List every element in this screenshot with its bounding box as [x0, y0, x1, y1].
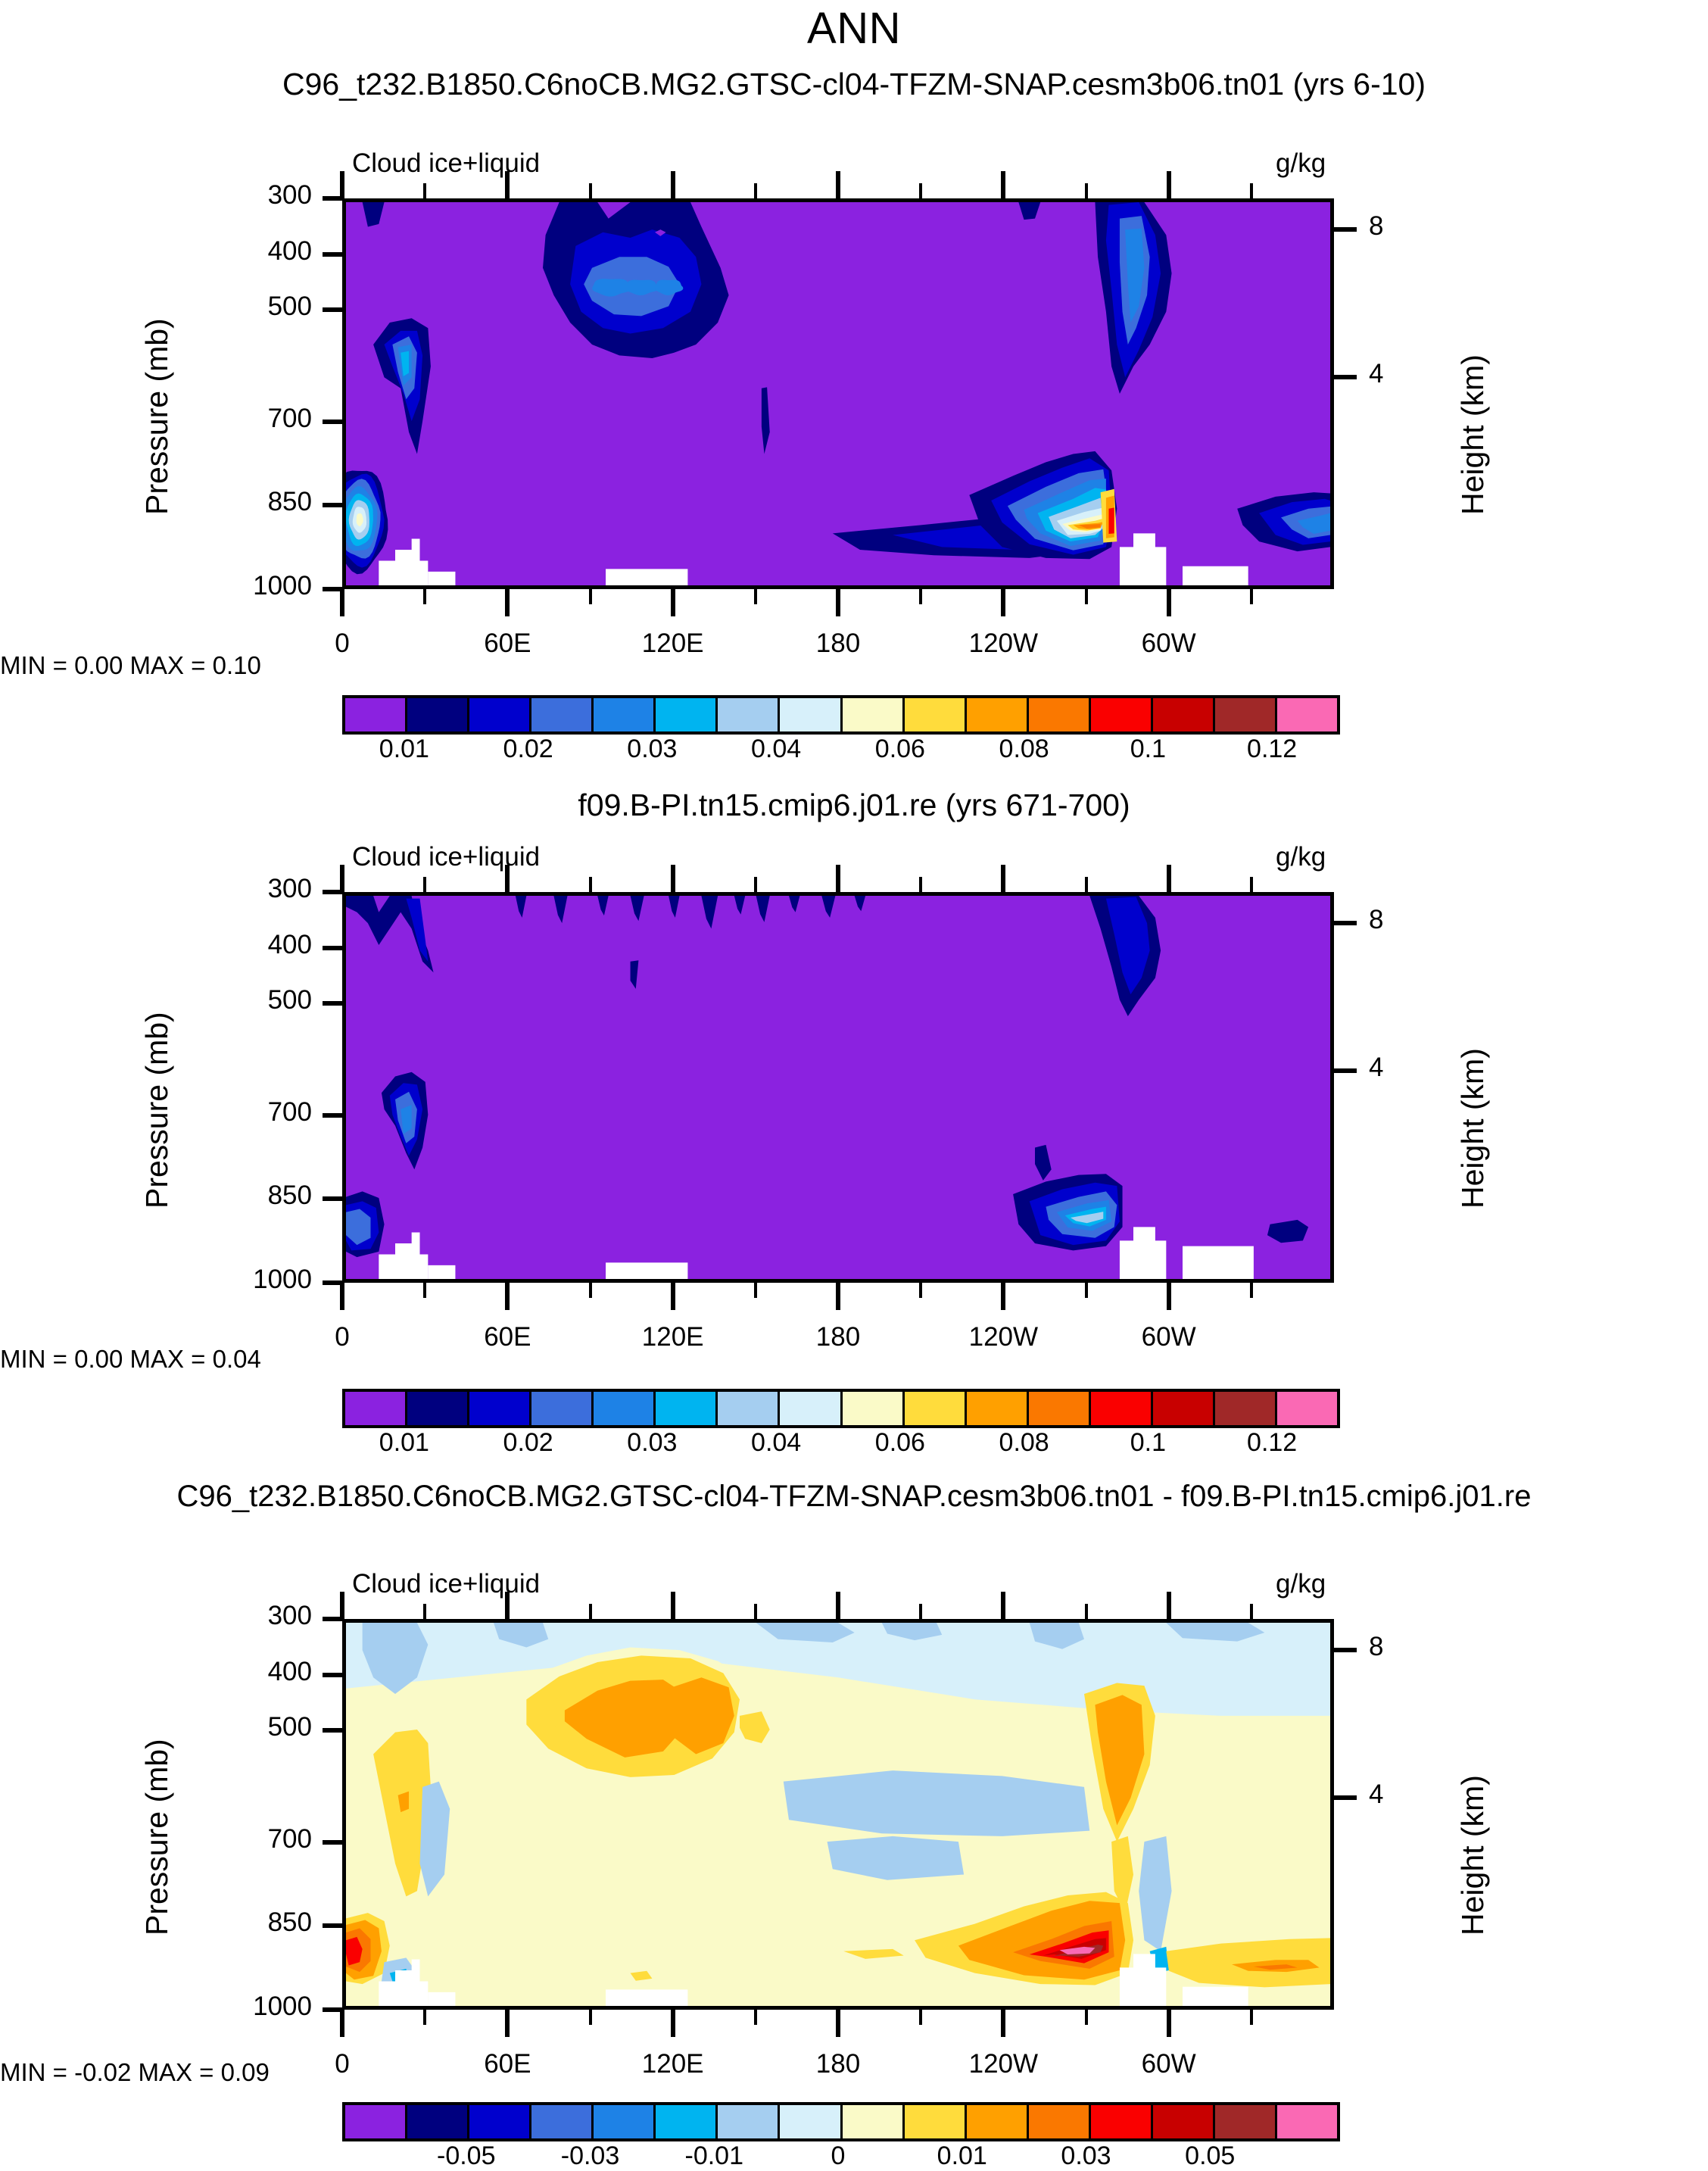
x-minor-tick-mark — [754, 589, 757, 604]
colorbar-cell — [531, 698, 594, 731]
colorbar-cell — [1215, 1392, 1277, 1425]
y2-axis-title: Height (km) — [1455, 1775, 1491, 1935]
colorbar-label: -0.01 — [661, 2141, 767, 2171]
colorbar-cell — [469, 1392, 531, 1425]
colorbar-label: 0.03 — [599, 1428, 705, 1458]
x-tick-mark — [836, 1592, 840, 1619]
x-minor-tick-mark — [919, 2010, 922, 2025]
panel-3-colorbar — [342, 2102, 1340, 2141]
colorbar-cell — [1091, 2105, 1153, 2138]
panel-3-plot-area — [342, 1619, 1334, 2010]
y-axis-title: Pressure (mb) — [139, 1739, 175, 1935]
colorbar-cell — [407, 1392, 469, 1425]
x-minor-tick-mark — [1085, 1283, 1088, 1298]
x-tick-label: 60W — [1093, 629, 1245, 659]
x-minor-tick-mark — [589, 1604, 592, 1619]
colorbar-cell — [718, 2105, 780, 2138]
colorbar-label: 0.02 — [475, 1428, 581, 1458]
colorbar-label: -0.05 — [413, 2141, 519, 2171]
x-minor-tick-mark — [1085, 877, 1088, 892]
colorbar-cell — [905, 1392, 967, 1425]
x-minor-tick-mark — [423, 589, 426, 604]
colorbar-label: -0.03 — [538, 2141, 644, 2171]
y-tick-label: 400 — [168, 1657, 312, 1687]
y-tick-mark — [323, 1196, 342, 1201]
y2-axis-title: Height (km) — [1455, 354, 1491, 515]
x-tick-mark — [671, 589, 675, 616]
x-minor-tick-mark — [919, 183, 922, 198]
colorbar-cell — [843, 698, 905, 731]
colorbar-cell — [1091, 698, 1153, 731]
x-tick-mark — [836, 1283, 840, 1310]
x-minor-tick-mark — [754, 183, 757, 198]
contour-band — [1109, 507, 1114, 534]
y-tick-label: 850 — [168, 487, 312, 517]
x-tick-mark — [505, 1283, 510, 1310]
y-axis-title: Pressure (mb) — [139, 318, 175, 515]
x-tick-mark — [1001, 1592, 1005, 1619]
colorbar-cell — [594, 2105, 656, 2138]
y-tick-mark — [323, 1673, 342, 1677]
colorbar-cell — [531, 2105, 594, 2138]
contour-field — [346, 202, 1330, 585]
colorbar-cell — [1029, 1392, 1091, 1425]
x-minor-tick-mark — [589, 2010, 592, 2025]
x-tick-mark — [340, 865, 344, 892]
contour-band — [412, 1233, 420, 1279]
x-tick-label: 60E — [432, 629, 583, 659]
y-tick-label: 700 — [168, 1097, 312, 1128]
x-tick-mark — [836, 865, 840, 892]
x-minor-tick-mark — [423, 877, 426, 892]
colorbar-cell — [407, 698, 469, 731]
y-tick-mark — [323, 307, 342, 312]
contour-band — [428, 1265, 455, 1279]
x-minor-tick-mark — [919, 877, 922, 892]
contour-field — [346, 1623, 1330, 2006]
colorbar-cell — [780, 2105, 842, 2138]
x-tick-mark — [836, 171, 840, 198]
colorbar-cell — [1153, 1392, 1215, 1425]
x-tick-mark — [836, 2010, 840, 2037]
y-tick-label: 700 — [168, 1824, 312, 1854]
colorbar-label: 0.12 — [1219, 1428, 1325, 1458]
colorbar-cell — [1277, 698, 1337, 731]
colorbar-cell — [905, 2105, 967, 2138]
x-minor-tick-mark — [423, 2010, 426, 2025]
colorbar-label: 0.08 — [971, 1428, 1077, 1458]
colorbar-label: 0.08 — [971, 735, 1077, 764]
colorbar-label: 0.02 — [475, 735, 581, 764]
y-tick-label: 850 — [168, 1907, 312, 1938]
y-tick-label: 500 — [168, 292, 312, 322]
colorbar-cell — [469, 698, 531, 731]
y2-tick-mark — [1334, 227, 1357, 232]
x-tick-label: 60W — [1093, 1322, 1245, 1352]
y2-tick-mark — [1334, 1068, 1357, 1073]
contour-band — [606, 1262, 687, 1279]
colorbar-cell — [594, 1392, 656, 1425]
colorbar-cell — [656, 2105, 718, 2138]
y-tick-label: 1000 — [168, 571, 312, 601]
y-tick-label: 300 — [168, 874, 312, 904]
y-tick-label: 500 — [168, 1712, 312, 1742]
x-tick-mark — [505, 1592, 510, 1619]
contour-band — [1133, 1227, 1155, 1279]
colorbar-label: 0.1 — [1095, 1428, 1201, 1458]
colorbar-label: 0.01 — [351, 735, 457, 764]
y2-tick-label: 4 — [1369, 1053, 1383, 1083]
contour-band — [412, 539, 420, 585]
contour-band — [1183, 566, 1248, 585]
x-tick-label: 120W — [927, 1322, 1079, 1352]
colorbar-cell — [905, 698, 967, 731]
panel-2-colorbar — [342, 1389, 1340, 1428]
y2-tick-label: 4 — [1369, 1780, 1383, 1810]
x-tick-mark — [340, 1592, 344, 1619]
y-tick-mark — [323, 1840, 342, 1845]
x-minor-tick-mark — [754, 1604, 757, 1619]
y2-tick-label: 8 — [1369, 905, 1383, 935]
contour-band — [606, 1989, 687, 2006]
colorbar-cell — [469, 2105, 531, 2138]
y2-tick-mark — [1334, 921, 1357, 925]
x-minor-tick-mark — [1250, 877, 1253, 892]
y-tick-label: 500 — [168, 985, 312, 1015]
colorbar-cell — [1277, 1392, 1337, 1425]
x-tick-label: 120E — [597, 629, 749, 659]
x-minor-tick-mark — [423, 183, 426, 198]
colorbar-cell — [1153, 2105, 1215, 2138]
panel-2-plot-area — [342, 892, 1334, 1283]
x-tick-mark — [1001, 1283, 1005, 1310]
y-tick-label: 1000 — [168, 1992, 312, 2022]
y-tick-label: 400 — [168, 930, 312, 960]
panel-1-unit-label: g/kg — [1276, 148, 1326, 179]
colorbar-cell — [843, 1392, 905, 1425]
y-tick-mark — [323, 1728, 342, 1733]
x-tick-mark — [505, 171, 510, 198]
x-tick-mark — [1167, 171, 1171, 198]
x-tick-mark — [340, 589, 344, 616]
y-tick-label: 700 — [168, 404, 312, 434]
x-minor-tick-mark — [589, 1283, 592, 1298]
x-tick-mark — [340, 171, 344, 198]
x-tick-mark — [505, 865, 510, 892]
x-tick-mark — [671, 1283, 675, 1310]
x-tick-mark — [1001, 589, 1005, 616]
colorbar-cell — [718, 698, 780, 731]
contour-band — [1133, 533, 1155, 585]
contour-field — [346, 896, 1330, 1279]
x-minor-tick-mark — [919, 589, 922, 604]
x-minor-tick-mark — [1250, 1604, 1253, 1619]
contour-band — [412, 1960, 420, 2006]
x-minor-tick-mark — [423, 1604, 426, 1619]
y2-tick-label: 8 — [1369, 211, 1383, 242]
x-minor-tick-mark — [754, 877, 757, 892]
contour-band — [428, 1992, 455, 2006]
x-tick-label: 0 — [266, 2049, 418, 2079]
colorbar-cell — [345, 1392, 407, 1425]
x-tick-mark — [1001, 171, 1005, 198]
colorbar-label: 0.03 — [1033, 2141, 1139, 2171]
colorbar-label: 0.03 — [599, 735, 705, 764]
x-tick-label: 120W — [927, 629, 1079, 659]
contour-band — [1183, 1987, 1248, 2006]
x-minor-tick-mark — [1250, 1283, 1253, 1298]
y-tick-mark — [323, 1113, 342, 1118]
colorbar-cell — [1215, 2105, 1277, 2138]
panel-2-variable-label: Cloud ice+liquid — [352, 842, 540, 872]
x-tick-label: 60W — [1093, 2049, 1245, 2079]
y-tick-mark — [323, 503, 342, 507]
x-minor-tick-mark — [1085, 2010, 1088, 2025]
y-tick-label: 850 — [168, 1181, 312, 1211]
panel-1-colorbar — [342, 695, 1340, 735]
colorbar-cell — [656, 1392, 718, 1425]
x-tick-label: 120W — [927, 2049, 1079, 2079]
field-background — [346, 896, 1330, 1279]
x-tick-label: 120E — [597, 2049, 749, 2079]
x-tick-label: 60E — [432, 2049, 583, 2079]
x-tick-mark — [1001, 2010, 1005, 2037]
x-minor-tick-mark — [1085, 589, 1088, 604]
colorbar-label: 0.1 — [1095, 735, 1201, 764]
x-tick-mark — [1167, 1592, 1171, 1619]
colorbar-label: 0.01 — [909, 2141, 1015, 2171]
contour-band — [606, 569, 687, 585]
colorbar-cell — [1215, 698, 1277, 731]
colorbar-cell — [1153, 698, 1215, 731]
panel-1-plot-area — [342, 198, 1334, 589]
colorbar-label: 0.04 — [723, 735, 829, 764]
x-minor-tick-mark — [589, 589, 592, 604]
colorbar-cell — [843, 2105, 905, 2138]
x-tick-mark — [671, 2010, 675, 2037]
y-tick-label: 400 — [168, 236, 312, 267]
colorbar-label: 0.01 — [351, 1428, 457, 1458]
x-minor-tick-mark — [423, 1283, 426, 1298]
x-minor-tick-mark — [1085, 1604, 1088, 1619]
colorbar-cell — [1091, 1392, 1153, 1425]
x-minor-tick-mark — [919, 1283, 922, 1298]
x-minor-tick-mark — [1250, 2010, 1253, 2025]
y-axis-title: Pressure (mb) — [139, 1012, 175, 1209]
x-tick-label: 180 — [762, 2049, 914, 2079]
x-tick-mark — [836, 589, 840, 616]
contour-band — [1133, 1954, 1155, 2006]
panel-2-title: f09.B-PI.tn15.cmip6.j01.re (yrs 671-700) — [0, 788, 1708, 823]
panel-1-variable-label: Cloud ice+liquid — [352, 148, 540, 179]
y2-tick-mark — [1334, 375, 1357, 379]
colorbar-label: 0.05 — [1157, 2141, 1263, 2171]
colorbar-cell — [780, 698, 842, 731]
x-tick-mark — [1167, 2010, 1171, 2037]
colorbar-cell — [1277, 2105, 1337, 2138]
y-tick-mark — [323, 1923, 342, 1928]
panel-3-variable-label: Cloud ice+liquid — [352, 1569, 540, 1599]
colorbar-cell — [780, 1392, 842, 1425]
y-tick-label: 300 — [168, 180, 312, 211]
x-minor-tick-mark — [1250, 589, 1253, 604]
panel-3-unit-label: g/kg — [1276, 1569, 1326, 1599]
colorbar-label: 0.06 — [847, 735, 953, 764]
figure-page: ANN C96_t232.B1850.C6noCB.MG2.GTSC-cl04-… — [0, 0, 1708, 2166]
x-minor-tick-mark — [1085, 183, 1088, 198]
colorbar-label: 0.12 — [1219, 735, 1325, 764]
colorbar-cell — [407, 2105, 469, 2138]
colorbar-cell — [1029, 698, 1091, 731]
colorbar-cell — [967, 698, 1029, 731]
panel-1-title: C96_t232.B1850.C6noCB.MG2.GTSC-cl04-TFZM… — [0, 67, 1708, 102]
x-tick-mark — [671, 865, 675, 892]
x-tick-mark — [1167, 865, 1171, 892]
colorbar-cell — [345, 2105, 407, 2138]
y-tick-label: 300 — [168, 1601, 312, 1631]
colorbar-label: 0.06 — [847, 1428, 953, 1458]
y-tick-label: 1000 — [168, 1265, 312, 1295]
x-tick-mark — [505, 2010, 510, 2037]
colorbar-cell — [531, 1392, 594, 1425]
y-tick-mark — [323, 1001, 342, 1006]
colorbar-cell — [656, 698, 718, 731]
x-tick-label: 0 — [266, 1322, 418, 1352]
colorbar-cell — [967, 2105, 1029, 2138]
x-tick-mark — [340, 2010, 344, 2037]
colorbar-cell — [718, 1392, 780, 1425]
colorbar-cell — [345, 698, 407, 731]
contour-band — [346, 1809, 1330, 2006]
x-minor-tick-mark — [754, 1283, 757, 1298]
x-tick-label: 0 — [266, 629, 418, 659]
y-tick-mark — [323, 946, 342, 950]
x-minor-tick-mark — [589, 877, 592, 892]
y2-tick-mark — [1334, 1795, 1357, 1800]
y2-axis-title: Height (km) — [1455, 1048, 1491, 1209]
x-tick-mark — [1167, 589, 1171, 616]
contour-band — [428, 572, 455, 585]
colorbar-label: 0 — [785, 2141, 891, 2171]
contour-band — [1183, 1246, 1254, 1279]
colorbar-cell — [594, 698, 656, 731]
x-tick-label: 120E — [597, 1322, 749, 1352]
x-minor-tick-mark — [1250, 183, 1253, 198]
colorbar-cell — [967, 1392, 1029, 1425]
figure-suptitle: ANN — [0, 3, 1708, 54]
x-tick-mark — [340, 1283, 344, 1310]
x-tick-label: 180 — [762, 629, 914, 659]
x-minor-tick-mark — [919, 1604, 922, 1619]
y-tick-mark — [323, 420, 342, 424]
x-minor-tick-mark — [589, 183, 592, 198]
x-tick-mark — [671, 171, 675, 198]
x-minor-tick-mark — [754, 2010, 757, 2025]
y2-tick-label: 8 — [1369, 1632, 1383, 1662]
x-tick-label: 180 — [762, 1322, 914, 1352]
x-tick-mark — [505, 589, 510, 616]
y2-tick-label: 4 — [1369, 359, 1383, 389]
colorbar-label: 0.04 — [723, 1428, 829, 1458]
x-tick-mark — [671, 1592, 675, 1619]
field-background — [346, 202, 1330, 585]
x-tick-mark — [1167, 1283, 1171, 1310]
x-tick-mark — [1001, 865, 1005, 892]
colorbar-cell — [1029, 2105, 1091, 2138]
y2-tick-mark — [1334, 1648, 1357, 1652]
x-tick-label: 60E — [432, 1322, 583, 1352]
panel-3-title: C96_t232.B1850.C6noCB.MG2.GTSC-cl04-TFZM… — [0, 1480, 1708, 1514]
y-tick-mark — [323, 252, 342, 257]
panel-2-unit-label: g/kg — [1276, 842, 1326, 872]
